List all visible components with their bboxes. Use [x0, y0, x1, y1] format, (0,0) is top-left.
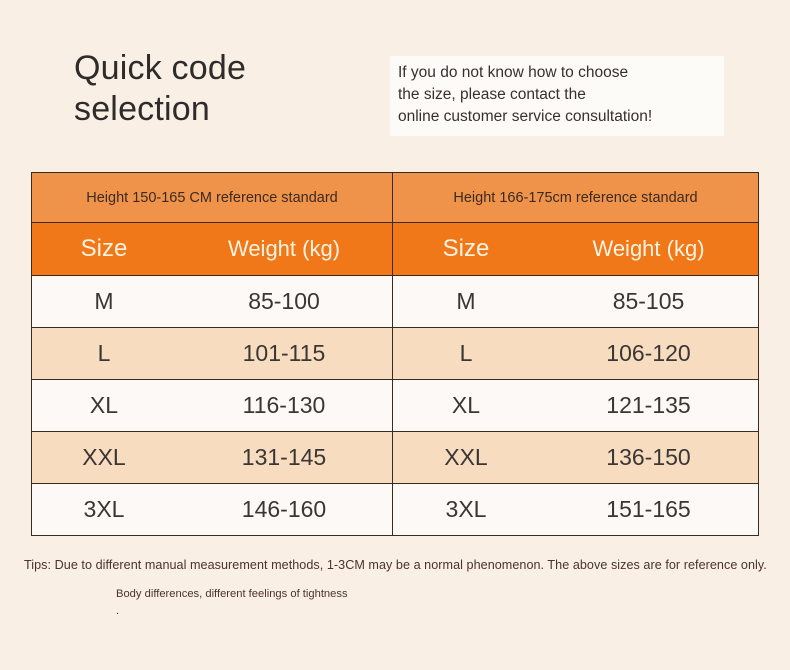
cell-weight: 131-145	[176, 444, 392, 471]
cell-weight: 116-130	[176, 392, 392, 419]
cell-size: L	[393, 340, 539, 367]
tips-secondary-text: Body differences, different feelings of …	[116, 586, 676, 620]
cell-size: XL	[32, 392, 176, 419]
cell-size: M	[32, 288, 176, 315]
cell-size: L	[32, 340, 176, 367]
tips-main-text: Tips: Due to different manual measuremen…	[24, 558, 774, 572]
table-column-headers: Size Weight (kg)	[32, 223, 392, 276]
table-caption: Height 150-165 CM reference standard	[32, 173, 392, 223]
cell-weight: 106-120	[539, 340, 758, 367]
column-header-weight: Weight (kg)	[539, 236, 758, 262]
service-note-box: If you do not know how to choose the siz…	[390, 56, 724, 136]
table-caption: Height 166-175cm reference standard	[393, 173, 758, 223]
column-header-size: Size	[393, 235, 539, 263]
table-row: XXL 131-145	[32, 432, 392, 484]
size-table-166-175: Height 166-175cm reference standard Size…	[393, 172, 759, 536]
table-row: XXL 136-150	[393, 432, 758, 484]
column-header-size: Size	[32, 235, 176, 263]
table-row: XL 121-135	[393, 380, 758, 432]
table-row: 3XL 151-165	[393, 484, 758, 535]
table-row: M 85-100	[32, 276, 392, 328]
cell-size: 3XL	[393, 496, 539, 523]
column-header-weight: Weight (kg)	[176, 236, 392, 262]
table-column-headers: Size Weight (kg)	[393, 223, 758, 276]
table-row: L 106-120	[393, 328, 758, 380]
cell-size: XXL	[32, 444, 176, 471]
table-row: M 85-105	[393, 276, 758, 328]
table-row: XL 116-130	[32, 380, 392, 432]
cell-weight: 121-135	[539, 392, 758, 419]
cell-weight: 151-165	[539, 496, 758, 523]
cell-size: 3XL	[32, 496, 176, 523]
cell-size: XL	[393, 392, 539, 419]
table-row: 3XL 146-160	[32, 484, 392, 535]
cell-weight: 146-160	[176, 496, 392, 523]
size-table-150-165: Height 150-165 CM reference standard Siz…	[31, 172, 393, 536]
cell-size: M	[393, 288, 539, 315]
cell-weight: 101-115	[176, 340, 392, 367]
cell-weight: 85-100	[176, 288, 392, 315]
table-row: L 101-115	[32, 328, 392, 380]
cell-size: XXL	[393, 444, 539, 471]
cell-weight: 85-105	[539, 288, 758, 315]
size-tables: Height 150-165 CM reference standard Siz…	[31, 172, 759, 536]
page-title: Quick code selection	[74, 48, 374, 131]
cell-weight: 136-150	[539, 444, 758, 471]
